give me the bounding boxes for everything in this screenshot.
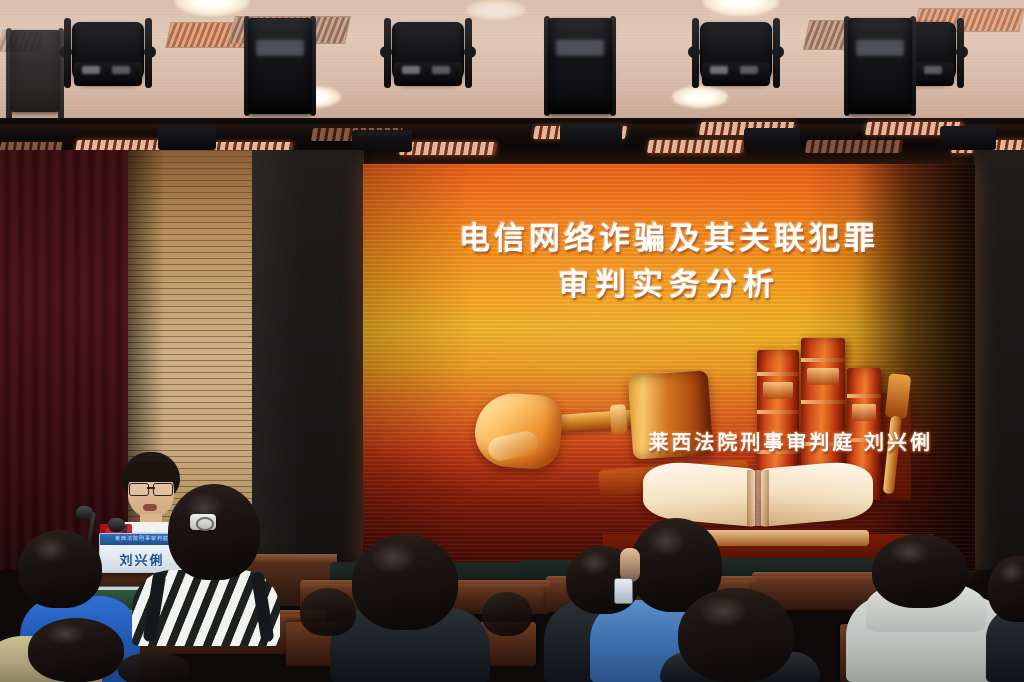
hair-clip — [190, 514, 216, 530]
cyclorama-flood — [647, 140, 745, 153]
truss-light-housing — [560, 124, 622, 150]
smartphone — [614, 578, 633, 604]
fresnel-stage-light — [838, 18, 922, 118]
raised-hand — [620, 548, 640, 582]
audience-head — [168, 484, 260, 580]
cyclorama-flood — [399, 142, 497, 155]
audience-head — [118, 652, 190, 682]
eyeglasses — [129, 483, 173, 494]
fresnel-stage-light — [238, 18, 322, 118]
lecture-hall-photo: 电信网络诈骗及其关联犯罪 审判实务分析 莱西法院刑事审判庭 刘兴俐 莱西法院刑事… — [0, 0, 1024, 682]
audience-head — [482, 592, 532, 636]
truss-light-housing — [744, 128, 800, 152]
fresnel-stage-light — [538, 18, 622, 118]
truss-light-housing — [940, 126, 996, 150]
slide-byline: 莱西法院刑事审判庭 刘兴俐 — [648, 426, 933, 455]
par-can-stage-light — [60, 22, 156, 94]
speaker-mouth — [143, 504, 157, 511]
fresnel-stage-light — [0, 30, 70, 120]
black-wall-right — [974, 150, 1024, 570]
audience-head — [28, 618, 124, 682]
recessed-downlight — [466, 0, 526, 20]
led-presentation-screen: 电信网络诈骗及其关联犯罪 审判实务分析 莱西法院刑事审判庭 刘兴俐 — [363, 164, 975, 570]
truss-light-housing — [158, 126, 216, 150]
par-can-stage-light — [688, 22, 784, 94]
audience-head — [352, 534, 458, 630]
audience-head — [18, 530, 102, 608]
cyclorama-flood — [805, 140, 903, 153]
audience-head — [678, 588, 794, 682]
nameplate-name: 刘兴俐 — [119, 550, 164, 569]
truss-light-housing — [352, 130, 412, 152]
wall-sheen — [252, 150, 364, 570]
slide-title-line-1: 电信网络诈骗及其关联犯罪 — [363, 216, 975, 262]
audience-head — [300, 588, 356, 636]
speaker-fringe — [124, 462, 178, 482]
slide-title-line-2: 审判实务分析 — [363, 262, 975, 308]
par-can-stage-light — [380, 22, 476, 94]
audience-head — [872, 534, 968, 608]
slide-title: 电信网络诈骗及其关联犯罪 审判实务分析 — [363, 216, 975, 308]
